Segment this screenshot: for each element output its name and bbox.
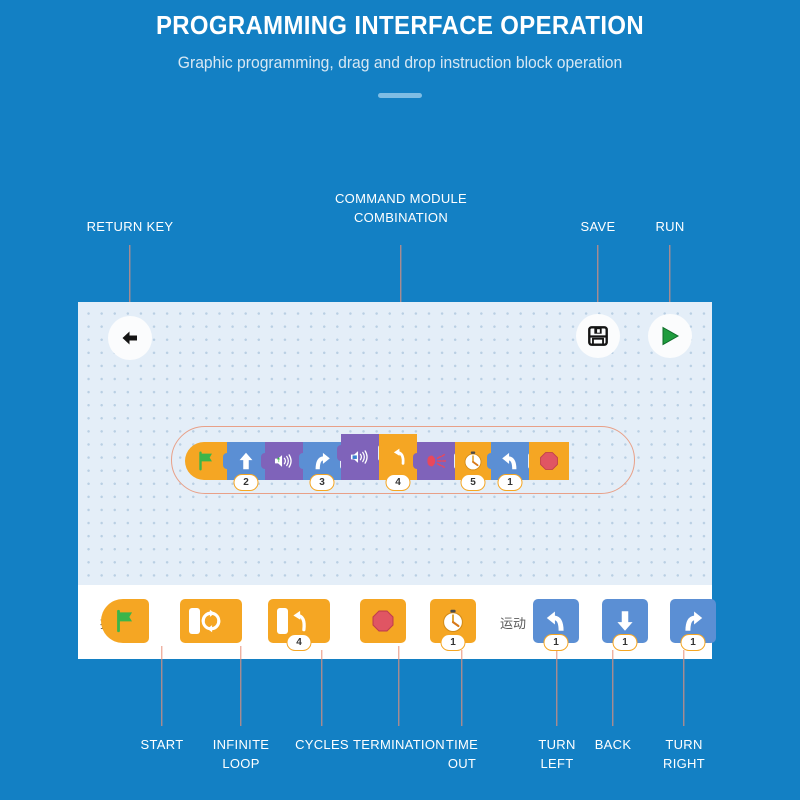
palette-count-badge[interactable]: 1 xyxy=(613,634,638,651)
palette-turn-right-block[interactable]: 1 xyxy=(670,599,716,643)
turn-left-icon xyxy=(543,608,569,634)
callout-label-start: START xyxy=(141,735,184,754)
palette-motion-label: 运动 xyxy=(500,613,526,632)
palette-back-block[interactable]: 1 xyxy=(602,599,648,643)
palette-start-block[interactable] xyxy=(101,599,149,643)
termination-block[interactable] xyxy=(529,442,569,480)
run-button[interactable] xyxy=(648,314,692,358)
sound-block[interactable] xyxy=(341,434,379,480)
palette-termination-block[interactable] xyxy=(360,599,406,643)
block-palette[interactable]: 控制 运动 41111 xyxy=(78,585,712,659)
timer-block[interactable]: 5 xyxy=(455,442,491,480)
undo-arrow-icon xyxy=(387,446,409,468)
light-beam-icon xyxy=(425,450,447,472)
callout-line-termination xyxy=(398,646,399,726)
start-flag-block[interactable] xyxy=(185,442,227,480)
back-button[interactable] xyxy=(108,316,152,360)
callout-line-infinite-loop xyxy=(240,646,241,726)
callout-line-turn-left xyxy=(556,650,557,726)
palette-cycles-block[interactable]: 4 xyxy=(268,599,330,643)
block-count-badge[interactable]: 4 xyxy=(386,474,411,491)
callout-label-command-module-combination: COMMAND MODULE COMBINATION xyxy=(335,189,467,227)
turn-right-icon xyxy=(680,608,706,634)
block-count-badge[interactable]: 5 xyxy=(461,474,486,491)
palette-turn-left-block[interactable]: 1 xyxy=(533,599,579,643)
callout-label-save: SAVE xyxy=(581,217,616,236)
callout-line-time-out xyxy=(461,650,462,726)
palette-infinite-loop-block[interactable] xyxy=(180,599,242,643)
save-button[interactable] xyxy=(576,314,620,358)
palette-timeout-block[interactable]: 1 xyxy=(430,599,476,643)
turn-left-icon xyxy=(499,450,521,472)
arrow-left-icon xyxy=(118,326,142,350)
callout-label-time-out: TIME OUT xyxy=(446,735,478,773)
arrow-up-icon xyxy=(235,450,257,472)
callout-label-return-key: RETURN KEY xyxy=(87,217,174,236)
arrow-down-icon xyxy=(612,608,638,634)
callout-line-start xyxy=(161,646,162,726)
floppy-disk-icon xyxy=(587,325,609,347)
cycles-icon xyxy=(286,608,312,634)
move-forward-block[interactable]: 2 xyxy=(227,442,265,480)
page-subtitle: Graphic programming, drag and drop instr… xyxy=(20,50,780,76)
loop-mouth-notch xyxy=(277,608,288,634)
green-flag-icon xyxy=(195,450,217,472)
infinite-loop-icon xyxy=(198,608,224,634)
green-flag-icon xyxy=(112,608,138,634)
command-block-sequence[interactable]: 23451 xyxy=(185,442,569,480)
block-count-badge[interactable]: 3 xyxy=(310,474,335,491)
play-triangle-icon xyxy=(658,324,682,348)
stop-octagon-icon xyxy=(538,450,560,472)
callout-label-turn-left: TURN LEFT xyxy=(538,735,575,773)
turn-right-icon xyxy=(311,450,333,472)
page-title: PROGRAMMING INTERFACE OPERATION xyxy=(32,8,768,42)
palette-count-badge[interactable]: 1 xyxy=(441,634,466,651)
speaker-up-icon xyxy=(273,450,295,472)
palette-count-badge[interactable]: 1 xyxy=(681,634,706,651)
callout-label-back: BACK xyxy=(595,735,632,754)
loop-mouth-notch xyxy=(189,608,200,634)
turn-right-block[interactable]: 3 xyxy=(303,442,341,480)
palette-count-badge[interactable]: 1 xyxy=(544,634,569,651)
stopwatch-icon xyxy=(440,608,466,634)
block-count-badge[interactable]: 2 xyxy=(234,474,259,491)
stop-octagon-icon xyxy=(370,608,396,634)
callout-label-run: RUN xyxy=(655,217,684,236)
callout-label-turn-right: TURN RIGHT xyxy=(663,735,705,773)
sound-up-block[interactable] xyxy=(265,442,303,480)
title-divider xyxy=(378,93,422,98)
block-workspace[interactable]: 23451 xyxy=(78,302,712,585)
programming-interface-panel: 23451 控制 运动 41111 xyxy=(78,302,712,659)
turn-left-block[interactable]: 1 xyxy=(491,442,529,480)
palette-count-badge[interactable]: 4 xyxy=(287,634,312,651)
light-block[interactable] xyxy=(417,442,455,480)
loop-back-block[interactable]: 4 xyxy=(379,434,417,480)
page-header: PROGRAMMING INTERFACE OPERATION Graphic … xyxy=(0,0,800,98)
callout-label-termination: TERMINATION xyxy=(353,735,445,754)
stopwatch-icon xyxy=(462,450,484,472)
callout-label-infinite-loop: INFINITE LOOP xyxy=(213,735,270,773)
callout-line-cycles xyxy=(321,650,322,726)
callout-line-turn-right xyxy=(683,650,684,726)
speaker-blue-icon xyxy=(349,446,371,468)
callout-line-back xyxy=(612,650,613,726)
block-count-badge[interactable]: 1 xyxy=(498,474,523,491)
callout-label-cycles: CYCLES xyxy=(295,735,349,754)
